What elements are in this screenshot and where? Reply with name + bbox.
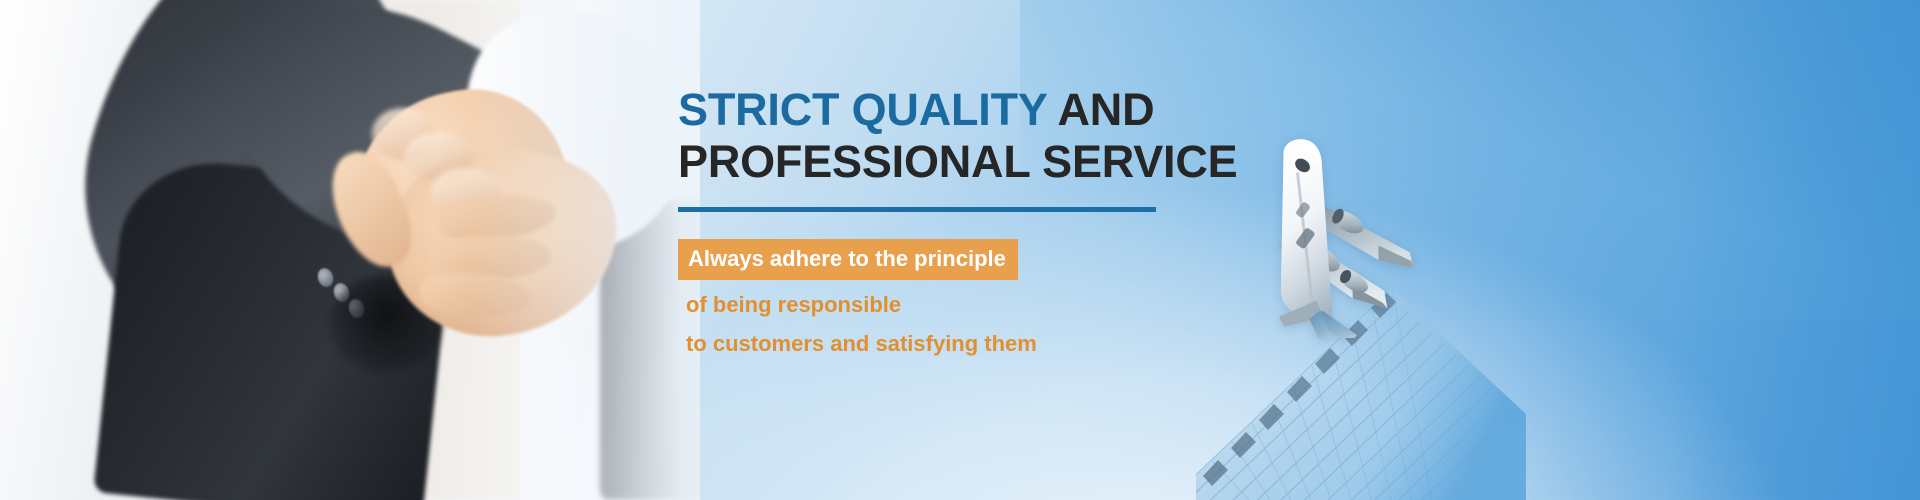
headline-dark-text: AND bbox=[1047, 84, 1155, 135]
promo-banner: STRICT QUALITY AND PROFESSIONAL SERVICE … bbox=[0, 0, 1920, 500]
photo-fade-overlay bbox=[470, 0, 700, 500]
tagline-highlight: Always adhere to the principle bbox=[678, 239, 1018, 280]
headline-line-1: STRICT QUALITY AND bbox=[678, 84, 1298, 136]
banner-text-block: STRICT QUALITY AND PROFESSIONAL SERVICE … bbox=[678, 84, 1298, 355]
subtitle-line-2: to customers and satisfying them bbox=[678, 333, 1298, 355]
handshake-photo bbox=[0, 0, 700, 500]
subtitle-line-1: of being responsible bbox=[678, 294, 1298, 316]
headline-line-2: PROFESSIONAL SERVICE bbox=[678, 136, 1298, 188]
sky-gradient-right bbox=[1500, 0, 1920, 500]
headline-accent-text: STRICT QUALITY bbox=[678, 84, 1047, 135]
